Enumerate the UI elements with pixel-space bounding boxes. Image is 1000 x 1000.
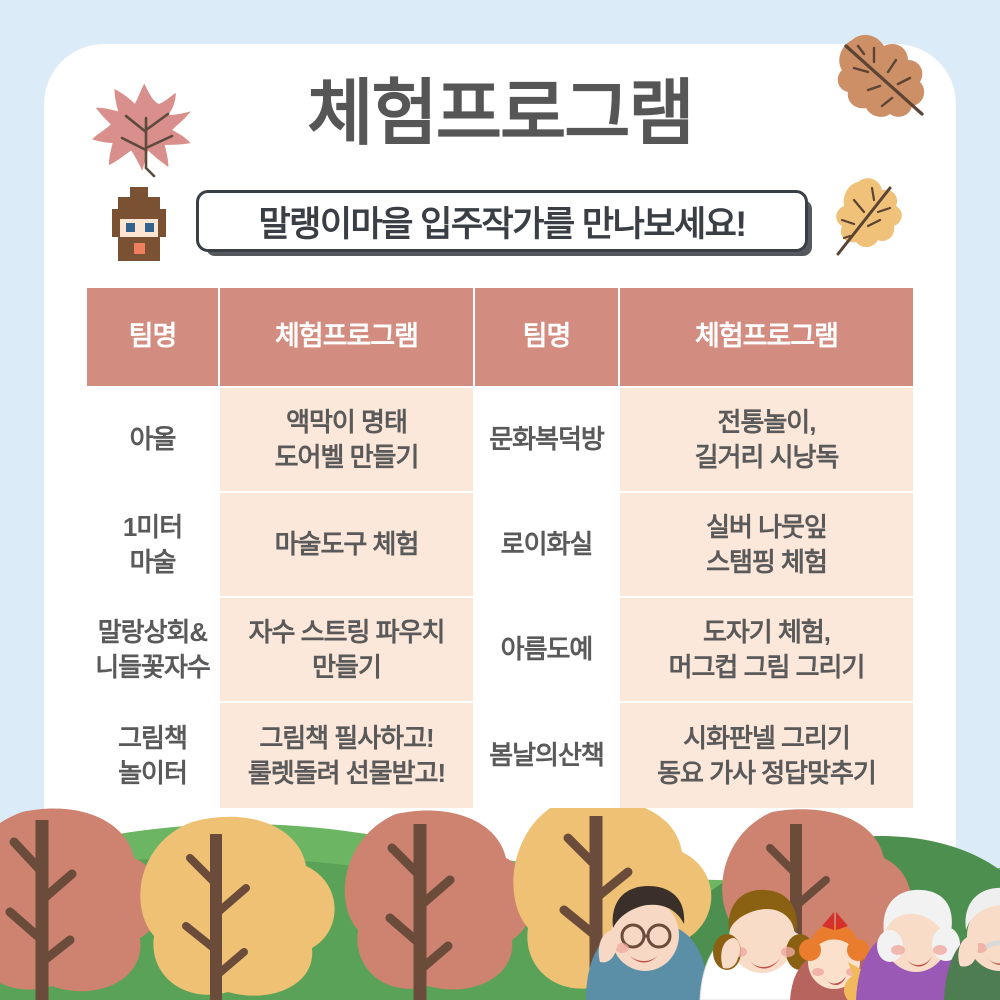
cell-program-right: 시화판넬 그리기동요 가사 정답맞추기: [620, 703, 913, 808]
header-team-left: 팀명: [87, 288, 220, 388]
page-title: 체험프로그램: [0, 78, 1000, 150]
cell-team-left: 그림책놀이터: [87, 703, 220, 808]
cell-team-left: 1미터마술: [87, 493, 220, 598]
cell-team-left: 아올: [87, 388, 220, 493]
header-program-left: 체험프로그램: [220, 288, 475, 388]
table-body: 아올 액막이 명태도어벨 만들기 문화복덕방 전통놀이,길거리 시낭독 1미터마…: [87, 388, 913, 808]
cell-program-left: 마술도구 체험: [220, 493, 475, 598]
table-row: 말랑상회&니들꽃자수 자수 스트링 파우치만들기 아름도예 도자기 체험,머그컵…: [87, 598, 913, 703]
cell-program-right: 도자기 체험,머그컵 그림 그리기: [620, 598, 913, 703]
cell-team-left: 말랑상회&니들꽃자수: [87, 598, 220, 703]
cell-program-left: 액막이 명태도어벨 만들기: [220, 388, 475, 493]
poster-canvas: 체험프로그램 말랭이마을 입주작가를 만나보세요! 팀명 체험프로그램 팀명 체…: [0, 0, 1000, 1000]
cell-program-right: 실버 나뭇잎스탬핑 체험: [620, 493, 913, 598]
person-grandfather: [944, 888, 1000, 1000]
table-header-row: 팀명 체험프로그램 팀명 체험프로그램: [87, 288, 913, 388]
cell-team-right: 문화복덕방: [475, 388, 620, 493]
orange-cat-icon: [844, 943, 903, 1000]
header-program-right: 체험프로그램: [620, 288, 913, 388]
cell-team-right: 로이화실: [475, 493, 620, 598]
pixel-villager-icon: [100, 185, 178, 267]
cell-team-right: 봄날의산책: [475, 703, 620, 808]
cell-program-right: 전통놀이,길거리 시낭독: [620, 388, 913, 493]
subtitle-text: 말랭이마을 입주작가를 만나보세요!: [258, 196, 745, 247]
subtitle-banner: 말랭이마을 입주작가를 만나보세요!: [196, 190, 808, 252]
birch-leaf-icon: [820, 168, 906, 274]
program-table: 팀명 체험프로그램 팀명 체험프로그램 아올 액막이 명태도어벨 만들기 문화복…: [87, 288, 913, 808]
table-row: 아올 액막이 명태도어벨 만들기 문화복덕방 전통놀이,길거리 시낭독: [87, 388, 913, 493]
header-team-right: 팀명: [475, 288, 620, 388]
cell-team-right: 아름도예: [475, 598, 620, 703]
cell-program-left: 그림책 필사하고!룰렛돌려 선물받고!: [220, 703, 475, 808]
cell-program-left: 자수 스트링 파우치만들기: [220, 598, 475, 703]
table-row: 그림책놀이터 그림책 필사하고!룰렛돌려 선물받고! 봄날의산책 시화판넬 그리…: [87, 703, 913, 808]
table-row: 1미터마술 마술도구 체험 로이화실 실버 나뭇잎스탬핑 체험: [87, 493, 913, 598]
